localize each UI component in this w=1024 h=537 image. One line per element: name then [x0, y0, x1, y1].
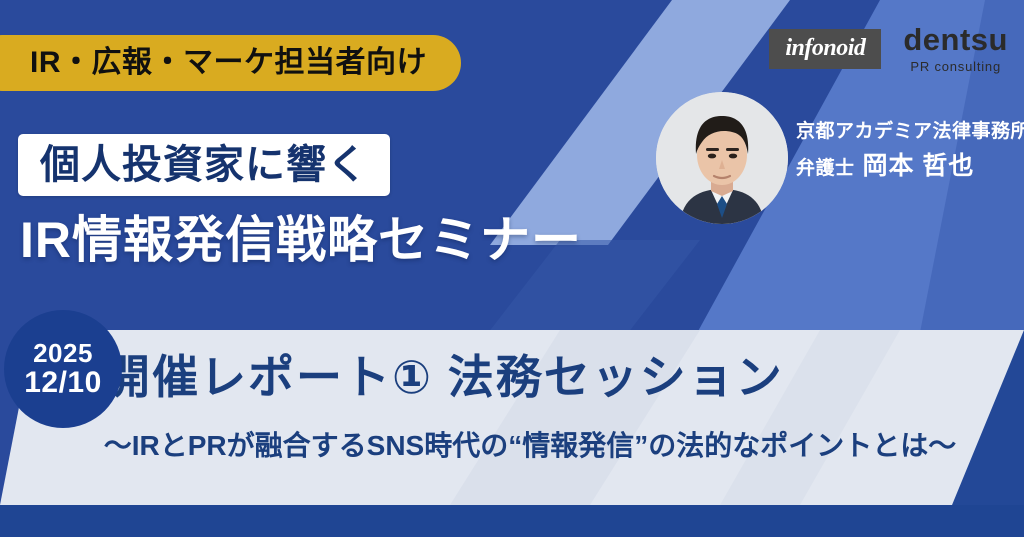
logo-group: infonoid dentsu PR consulting — [769, 24, 1008, 73]
speaker-role: 弁護士 — [796, 158, 855, 179]
speaker-info: 京都アカデミア法律事務所 弁護士 岡本 哲也 — [796, 122, 1024, 179]
dentsu-logo-text: dentsu — [903, 24, 1008, 55]
subtitle-text: 個人投資家に響く — [40, 145, 368, 185]
speaker-avatar — [656, 92, 788, 224]
date-badge: 2025 12/10 — [4, 310, 122, 428]
seminar-banner: IR・広報・マーケ担当者向け 個人投資家に響く IR情報発信戦略セミナー 202… — [0, 0, 1024, 537]
infonoid-logo: infonoid — [769, 29, 881, 69]
speaker-name: 岡本 哲也 — [862, 152, 974, 180]
subtitle-box: 個人投資家に響く — [18, 134, 390, 196]
speaker-name-line: 弁護士 岡本 哲也 — [796, 154, 1024, 179]
report-title: 開催レポート① 法務セッション — [104, 354, 984, 400]
dentsu-logo: dentsu PR consulting — [903, 24, 1008, 73]
main-headline: IR情報発信戦略セミナー — [20, 215, 582, 265]
audience-badge: IR・広報・マーケ担当者向け — [0, 35, 461, 91]
infonoid-logo-text: infonoid — [785, 36, 865, 60]
report-subtitle: 〜IRとPRが融合するSNS時代の“情報発信”の法的なポイントとは〜 — [60, 432, 1000, 460]
dentsu-logo-subtext: PR consulting — [910, 60, 1001, 73]
speaker-organization: 京都アカデミア法律事務所 — [796, 122, 1024, 141]
date-year: 2025 — [33, 340, 93, 367]
speaker-portrait-icon — [656, 92, 788, 224]
date-day: 12/10 — [24, 367, 102, 399]
audience-badge-label: IR・広報・マーケ担当者向け — [30, 48, 427, 78]
